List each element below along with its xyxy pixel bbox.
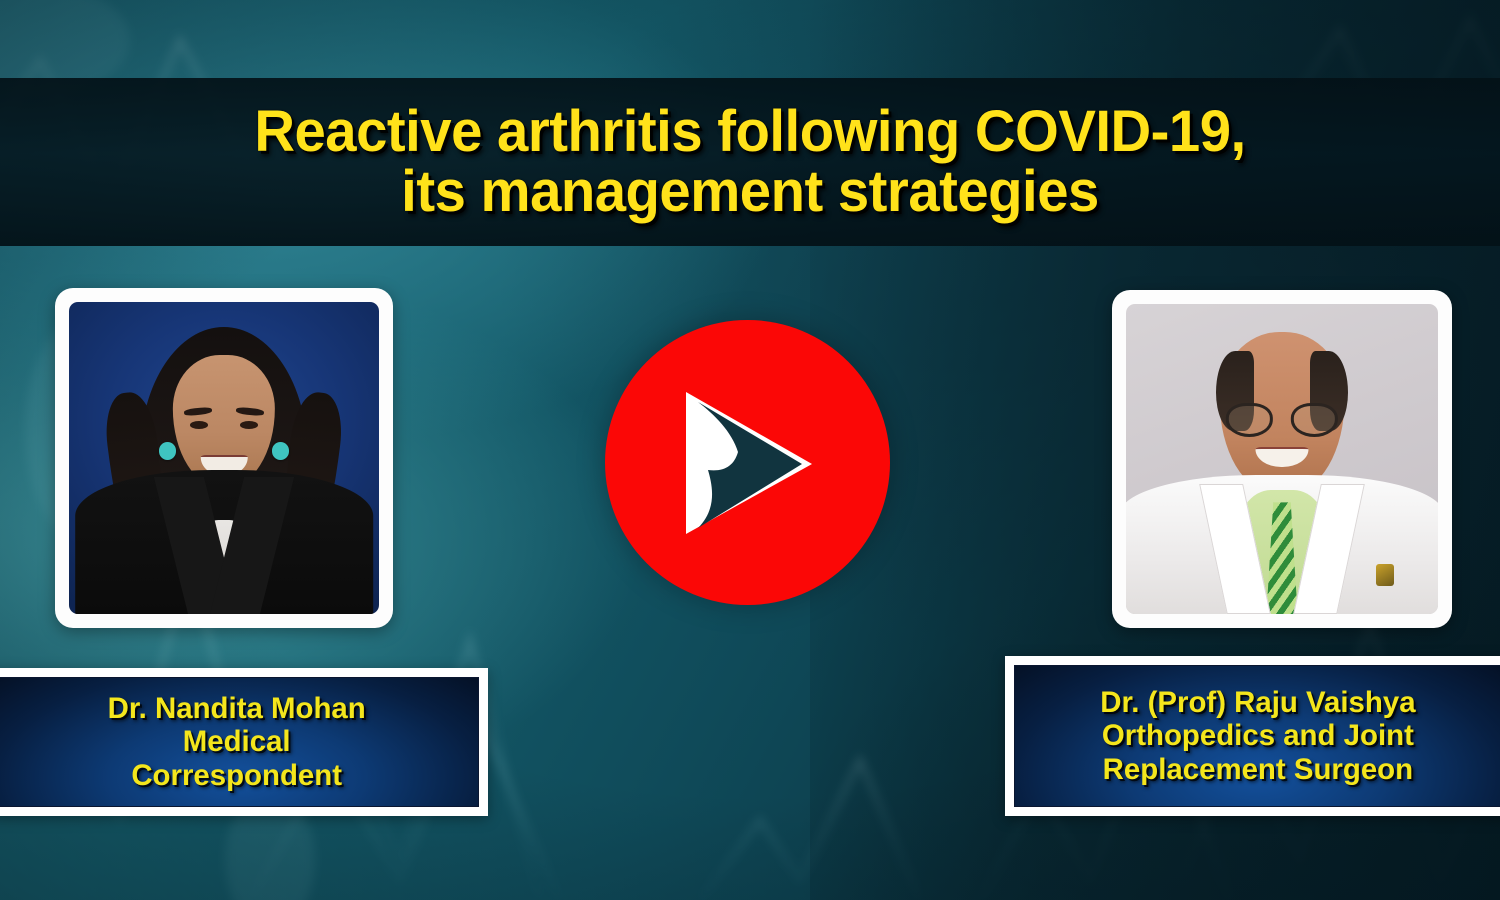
- speaker-nameplate-right: Dr. (Prof) Raju Vaishya Orthopedics and …: [1005, 656, 1500, 816]
- play-button[interactable]: [605, 320, 890, 605]
- portrait-eye-left-l: [190, 421, 209, 429]
- avatar: [1126, 304, 1438, 614]
- portrait-lens-r: [1291, 403, 1338, 437]
- portrait-glasses-right: [1226, 403, 1338, 437]
- portrait-earring-left-l: [159, 442, 176, 459]
- portrait-earring-left-r: [272, 442, 289, 459]
- speaker-name-left: Dr. Nandita Mohan Medical Correspondent: [108, 692, 366, 793]
- page-title: Reactive arthritis following COVID-19, i…: [225, 102, 1275, 221]
- nameplate-inner-right: Dr. (Prof) Raju Vaishya Orthopedics and …: [1014, 665, 1500, 807]
- avatar: [69, 302, 379, 614]
- speaker-name-right: Dr. (Prof) Raju Vaishya Orthopedics and …: [1100, 686, 1415, 787]
- speaker-nameplate-left: Dr. Nandita Mohan Medical Correspondent: [0, 668, 488, 816]
- video-thumbnail: Reactive arthritis following COVID-19, i…: [0, 0, 1500, 900]
- portrait-badge-right: [1376, 564, 1395, 586]
- play-triangle-icon: [678, 388, 818, 538]
- title-banner: Reactive arthritis following COVID-19, i…: [0, 78, 1500, 246]
- speaker-photo-frame-right: [1112, 290, 1452, 628]
- nameplate-inner-left: Dr. Nandita Mohan Medical Correspondent: [0, 677, 479, 807]
- portrait-eye-left-r: [240, 421, 259, 429]
- portrait-lens-l: [1226, 403, 1273, 437]
- speaker-photo-frame-left: [55, 288, 393, 628]
